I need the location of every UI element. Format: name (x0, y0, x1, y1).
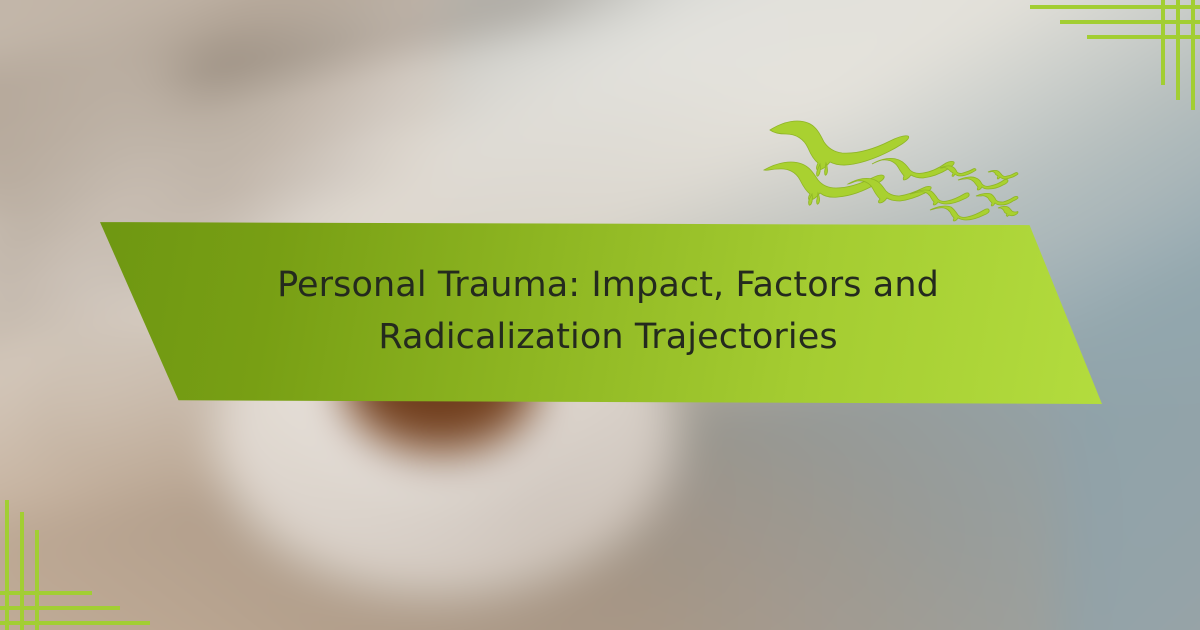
social-share-card: Personal Trauma: Impact, Factors and Rad… (0, 0, 1200, 630)
flying-birds-flock-icon (762, 108, 1018, 232)
page-title: Personal Trauma: Impact, Factors and Rad… (268, 260, 948, 364)
corner-lines-icon-top-right (1030, 0, 1200, 130)
corner-lines-icon-bottom-left (0, 500, 170, 630)
title-banner: Personal Trauma: Impact, Factors and Rad… (96, 218, 1102, 404)
